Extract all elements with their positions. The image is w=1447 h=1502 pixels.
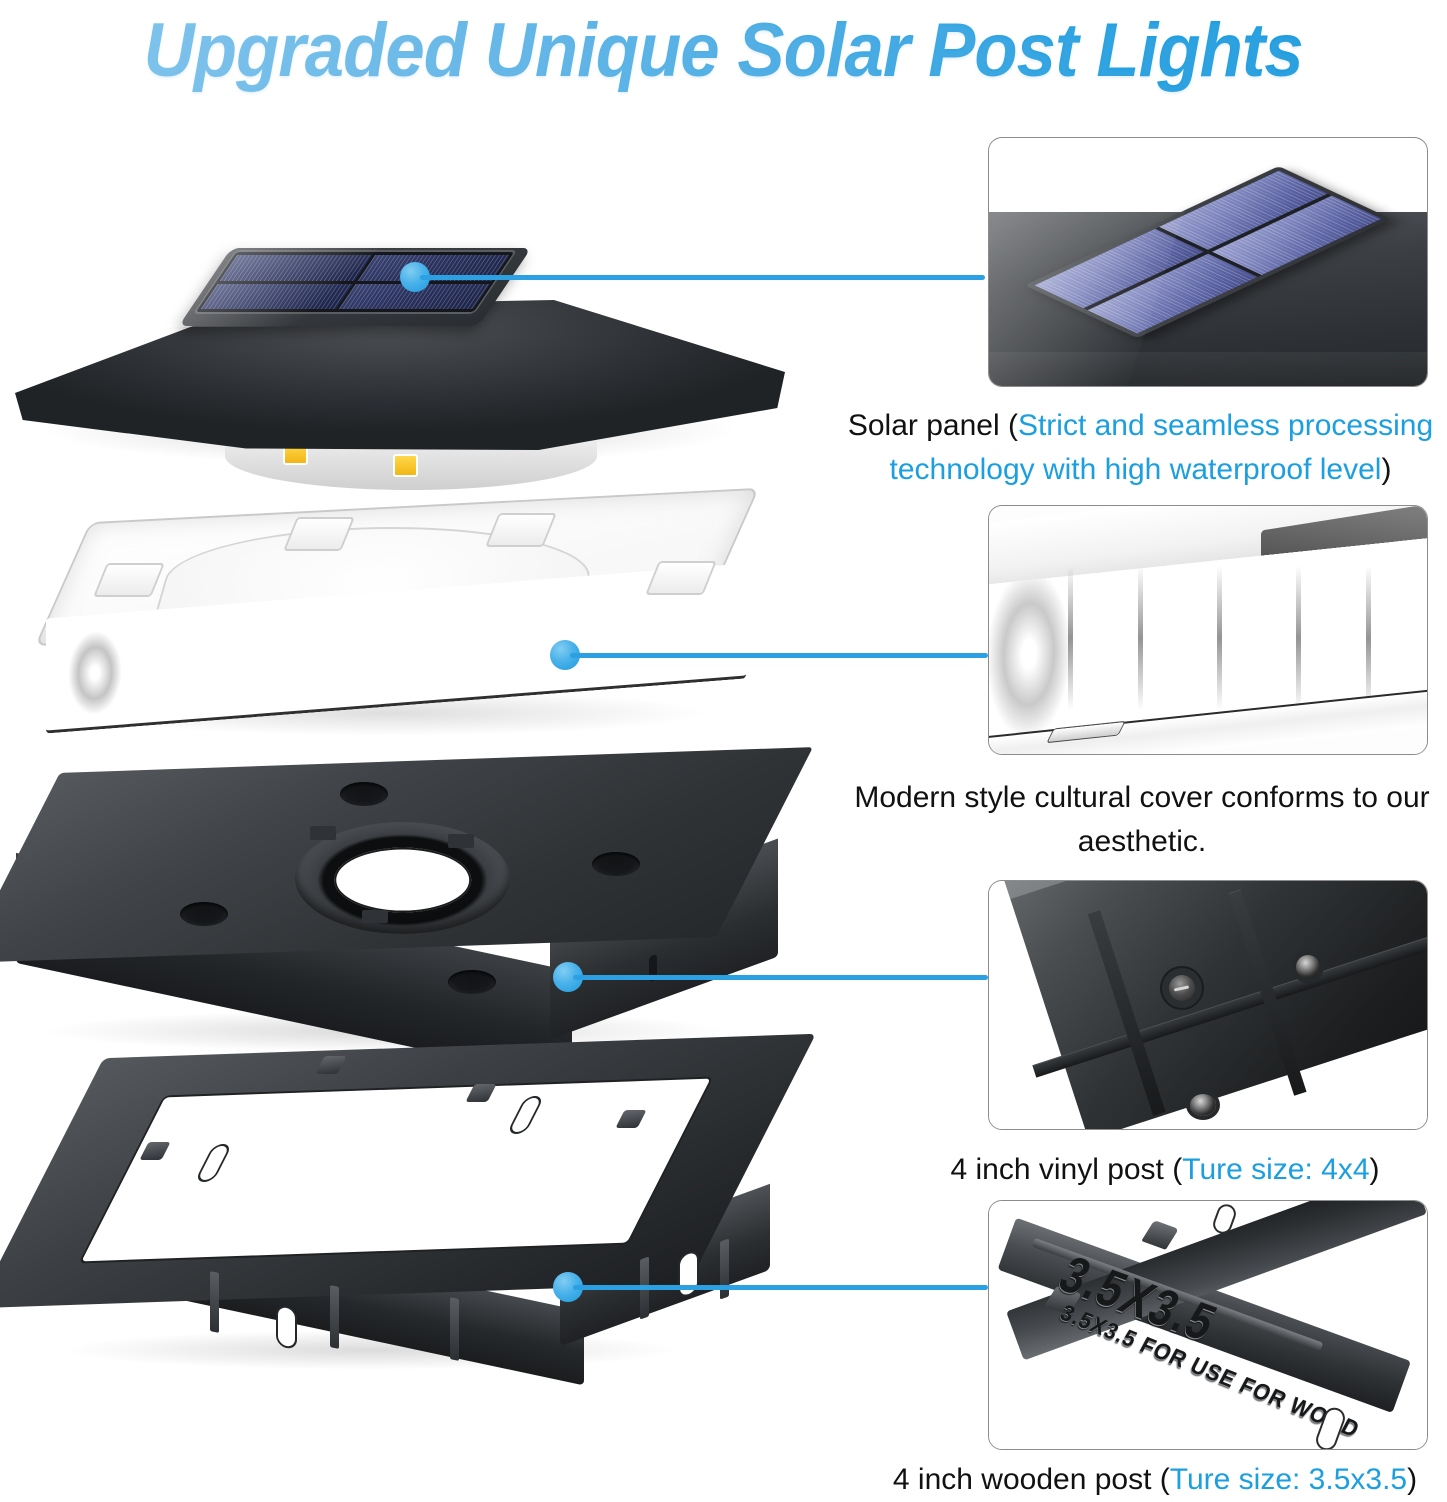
product-part-adapter-frame: [0, 0, 820, 1400]
glass-cover-closeup-image: [989, 506, 1427, 754]
glass-macro-rib: [1217, 565, 1222, 709]
base-underside-closeup-image: [989, 881, 1427, 1129]
caption-cultural-cover-line1: Modern style cultural cover conforms to: [854, 781, 1378, 814]
solar-panel-closeup-image: [989, 138, 1427, 386]
callout-line-cultural-cover: [570, 653, 988, 658]
caption-solar-panel-highlight-2: technology with high waterproof level: [890, 453, 1382, 486]
glass-macro-rib: [1138, 565, 1143, 709]
base-macro-hole: [1296, 955, 1320, 979]
infographic-stage: Upgraded Unique Solar Post Lights: [0, 0, 1447, 1500]
caption-wooden-post: 4 inch wooden post (Ture size: 3.5x3.5): [870, 1458, 1440, 1502]
caption-vinyl-post-prefix: 4 inch vinyl post (: [950, 1153, 1182, 1186]
caption-vinyl-post-suffix: ): [1370, 1153, 1380, 1186]
callout-line-solar-panel: [420, 275, 985, 280]
caption-solar-panel-prefix: Solar panel (: [848, 409, 1018, 442]
caption-vinyl-post: 4 inch vinyl post (Ture size: 4x4): [895, 1148, 1435, 1192]
caption-solar-panel: Solar panel (Strict and seamless process…: [838, 404, 1443, 492]
adapter-frame-opening: [81, 1079, 710, 1262]
caption-vinyl-post-highlight: Ture size: 4x4: [1182, 1153, 1369, 1186]
panel-glass-cover-closeup[interactable]: [988, 505, 1428, 755]
base-macro-screw-boss: [1169, 975, 1195, 1001]
callout-line-vinyl-post: [573, 975, 988, 980]
panel-wooden-post-adapter-closeup[interactable]: 3.5X3.5 3.5X3.5 FOR USE FOR WOOD: [988, 1200, 1428, 1450]
caption-cultural-cover: Modern style cultural cover conforms to …: [852, 776, 1432, 864]
caption-solar-panel-highlight-1: Strict and seamless processing: [1018, 409, 1433, 442]
adapter-frame-rib: [720, 1238, 729, 1299]
caption-solar-panel-suffix: ): [1381, 453, 1391, 486]
adapter-frame-rib: [210, 1271, 219, 1333]
adapter-frame-body: [20, 1040, 780, 1360]
caption-wooden-post-highlight: Ture size: 3.5x3.5: [1170, 1463, 1407, 1496]
callout-line-wooden-post: [573, 1285, 988, 1290]
panel-solar-panel-closeup[interactable]: [988, 137, 1428, 387]
panel-base-underside-closeup[interactable]: [988, 880, 1428, 1130]
caption-wooden-post-prefix: 4 inch wooden post (: [893, 1463, 1170, 1496]
glass-macro-rib: [1068, 565, 1073, 709]
wooden-post-adapter-closeup-image: 3.5X3.5 3.5X3.5 FOR USE FOR WOOD: [989, 1201, 1427, 1449]
glass-macro-rib: [1366, 565, 1371, 709]
adapter-frame-slot: [278, 1306, 295, 1348]
caption-wooden-post-suffix: ): [1407, 1463, 1417, 1496]
adapter-frame-rib: [330, 1285, 339, 1349]
glass-macro-rib: [1296, 565, 1301, 709]
adapter-frame-rib: [450, 1297, 459, 1361]
